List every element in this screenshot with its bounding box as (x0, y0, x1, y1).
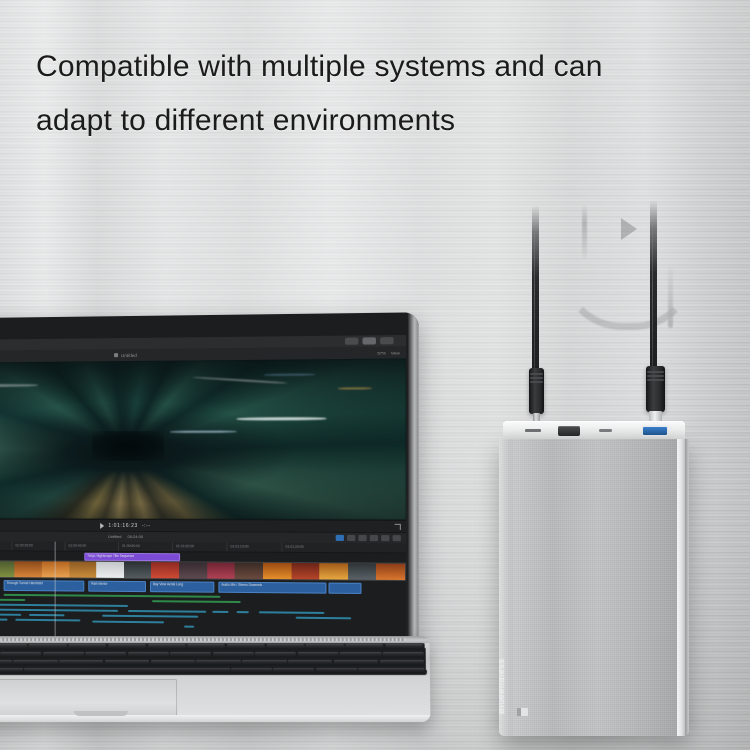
external-hard-drive-enclosure: Blueendless (499, 421, 689, 736)
ruler-tick (281, 543, 282, 552)
timeline-lane-teal[interactable] (184, 626, 194, 628)
headline-text: Compatible with multiple systems and can… (36, 40, 726, 148)
zoom-level-label[interactable]: 57% (377, 350, 385, 355)
filmstrip-thumbnails (0, 561, 405, 580)
laptop-base (0, 636, 430, 722)
smiley-face-watermark (560, 196, 700, 316)
clip-label: Through Tunnel Handheld (7, 581, 43, 585)
palm-rest-right (177, 679, 430, 719)
viewer-top-shade (0, 358, 406, 416)
laptop-front-edge (0, 715, 430, 722)
smiley-eye-right-icon (621, 218, 637, 240)
timeline-video-track[interactable] (0, 560, 406, 581)
laptop-hinge (0, 636, 430, 643)
device-body: Blueendless (499, 439, 689, 736)
ruler-tick (11, 541, 12, 550)
timeline-lane-teal[interactable] (237, 611, 249, 613)
ruler-tick (172, 542, 173, 551)
ruler-mark: 01:00:40:00 (68, 544, 86, 548)
tool-index-icon[interactable] (381, 535, 389, 541)
timeline-lane-teal[interactable] (102, 615, 198, 618)
timeline-clip-audio[interactable] (328, 583, 361, 594)
expand-icon[interactable] (395, 524, 401, 530)
view-menu-label[interactable]: View (391, 350, 400, 355)
vent-slot-left (525, 429, 541, 432)
fullscreen-button[interactable] (380, 337, 393, 344)
tool-select-icon[interactable] (336, 535, 344, 541)
clip-label: Tokyo Nightscape Title Sequence (87, 554, 134, 558)
timeline-clip-audio[interactable]: Bay View Aerial Long (150, 581, 214, 593)
clip-label: Audio Mix / Stereo Downmix (221, 583, 262, 587)
play-icon[interactable] (100, 523, 104, 529)
clip-label: Rail Interior (91, 582, 107, 586)
ruler-mark: 01:01:00:00 (176, 544, 194, 548)
timeline-lane-green[interactable] (0, 598, 25, 601)
power-usb-cable-left (528, 205, 544, 420)
window-controls[interactable] (345, 337, 394, 345)
timeline-lane-teal[interactable] (0, 603, 128, 607)
keyboard-row[interactable] (0, 652, 426, 659)
timeline-clip-audio[interactable]: Rail Interior (88, 581, 146, 592)
ruler-mark: 01:01:20:00 (285, 545, 303, 549)
clip-label: Bay View Aerial Long (153, 582, 183, 586)
cable-wire (650, 200, 657, 375)
macbook: Untitled 57% View (0, 316, 430, 716)
laptop-screen: Untitled 57% View (0, 335, 406, 643)
laptop-lid: Untitled 57% View (0, 312, 419, 649)
light-streak (170, 430, 237, 432)
cable-wire (532, 205, 539, 377)
timeline-lane-teal[interactable] (15, 619, 80, 622)
timeline-lane-teal[interactable] (296, 617, 351, 620)
timeline-lane-teal[interactable] (0, 609, 118, 612)
timecode-display: 1:01:16:23 (108, 523, 138, 529)
tunnel-vanishing-point (93, 430, 164, 460)
maximize-button[interactable] (363, 337, 376, 344)
timecode-secondary: -:-- (142, 523, 151, 529)
device-surface-grain (499, 439, 689, 736)
smiley-eye-left-icon (582, 204, 587, 258)
timeline-ruler[interactable]: 01:00:10:00 01:00:20:00 01:00:30:00 01:0… (0, 541, 406, 554)
tool-effects-icon[interactable] (393, 535, 401, 541)
data-usb-cable-right (645, 200, 665, 425)
video-viewer (0, 358, 406, 519)
ruler-tick (65, 542, 66, 551)
timeline-clip-audio[interactable]: Through Tunnel Handheld (4, 580, 85, 592)
timeline-tools[interactable] (336, 535, 401, 541)
device-right-edge (685, 439, 689, 736)
timeline-lane-green[interactable] (152, 600, 241, 603)
timeline-lane-green[interactable] (4, 594, 221, 598)
timeline-lane-teal[interactable] (212, 611, 228, 613)
usb-connector-right[interactable] (646, 366, 665, 412)
app-title: Untitled (121, 352, 137, 357)
laptop-front-notch (74, 711, 128, 716)
device-top-edge (503, 421, 685, 441)
keyboard-row[interactable] (0, 644, 425, 651)
timeline-lane-teal[interactable] (0, 618, 8, 621)
led-indicator (599, 429, 612, 432)
timeline-duration: 00:24:00 (128, 534, 144, 539)
viewer-controls[interactable]: 57% View (377, 350, 399, 355)
timeline-lane-teal[interactable] (29, 614, 64, 616)
timeline-lane-teal[interactable] (259, 611, 324, 614)
keyboard[interactable] (0, 643, 427, 675)
timeline-lane-teal[interactable] (92, 621, 164, 624)
ruler-mark: 01:00:50:00 (122, 544, 140, 548)
minimize-button[interactable] (345, 338, 358, 345)
usb-connector-left[interactable] (529, 368, 544, 414)
timeline-body[interactable]: 01:00:10:00 01:00:20:00 01:00:30:00 01:0… (0, 541, 406, 643)
tool-trim-icon[interactable] (347, 535, 355, 541)
smiley-stroke-icon (668, 266, 673, 328)
tool-blade-icon[interactable] (358, 535, 366, 541)
brand-mark-icon (517, 708, 528, 716)
viewer-bottom-shade (0, 471, 406, 519)
lid-right-edge (408, 312, 418, 649)
product-banner: Compatible with multiple systems and can… (0, 0, 750, 750)
timeline-clip-audio[interactable]: Audio Mix / Stereo Downmix (218, 582, 326, 594)
timeline-project-name: Untitled (108, 534, 121, 539)
timeline-project-info: Untitled 00:24:00 (108, 534, 143, 539)
ruler-tick (118, 542, 119, 551)
playhead[interactable] (55, 542, 56, 639)
brand-logo-text: Blueendless (499, 658, 506, 714)
micro-usb-port[interactable] (558, 426, 580, 436)
keyboard-row[interactable] (0, 660, 426, 667)
light-streak (236, 417, 326, 420)
usb3-port[interactable] (643, 427, 667, 435)
keyboard-row[interactable] (0, 668, 427, 675)
tool-zoom-icon[interactable] (370, 535, 378, 541)
ruler-mark: 01:00:30:00 (15, 543, 33, 547)
timeline-lane-teal[interactable] (0, 613, 21, 616)
app-icon (114, 353, 118, 357)
ruler-mark: 01:01:10:00 (231, 544, 249, 548)
timeline-lane-teal[interactable] (128, 610, 206, 613)
ruler-tick (226, 542, 227, 551)
